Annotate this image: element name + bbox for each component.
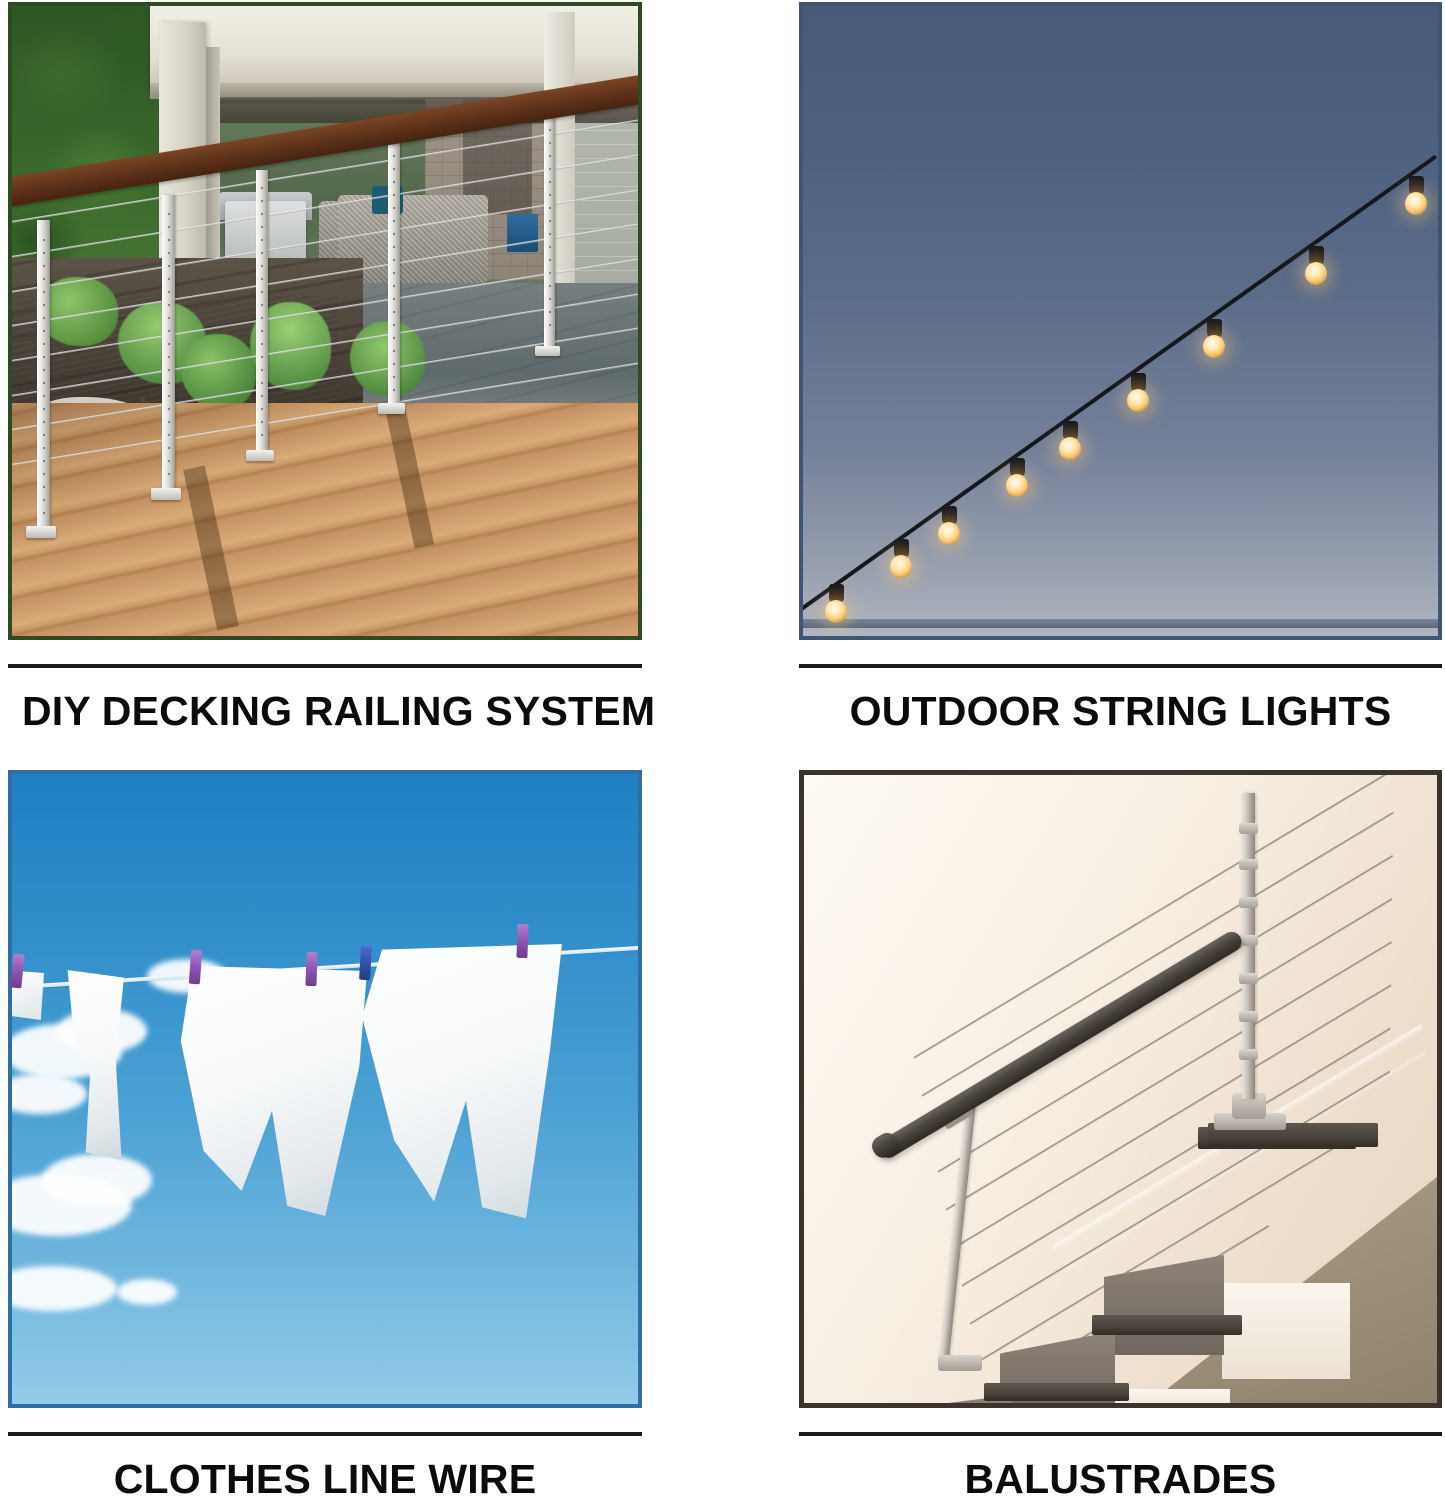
cloud bbox=[117, 1279, 177, 1305]
caption-balustrades: BALUSTRADES bbox=[799, 1432, 1442, 1503]
garment-sock bbox=[8, 970, 44, 1020]
railing-post bbox=[37, 220, 50, 535]
stair-tread bbox=[984, 1383, 1129, 1401]
cable-fitting bbox=[1239, 823, 1258, 834]
light-bulb bbox=[890, 555, 912, 578]
caption-clothes-line-wire: CLOTHES LINE WIRE bbox=[8, 1432, 642, 1503]
photo-diy-decking-railing-system[interactable] bbox=[8, 2, 642, 640]
cable-fitting bbox=[1239, 859, 1258, 870]
cable-fitting bbox=[1239, 1011, 1258, 1022]
railing-post-base bbox=[378, 403, 405, 414]
application-grid: DIY DECKING RAILING SYSTEM OUTDOOR STRIN… bbox=[0, 0, 1445, 1495]
photo-outdoor-string-lights[interactable] bbox=[799, 2, 1442, 640]
railing-post bbox=[256, 170, 268, 460]
railing-post-base bbox=[246, 450, 274, 461]
railing-post bbox=[162, 195, 175, 497]
light-bulb bbox=[1405, 192, 1427, 215]
light-bulb bbox=[1203, 335, 1225, 358]
railing-post-base bbox=[535, 346, 560, 356]
cloud bbox=[8, 1074, 87, 1114]
photo-balustrades[interactable] bbox=[799, 770, 1442, 1408]
light-bulb bbox=[1127, 389, 1149, 412]
shrub bbox=[181, 334, 256, 410]
caption-label: CLOTHES LINE WIRE bbox=[8, 1456, 642, 1503]
caption-divider bbox=[799, 664, 1442, 668]
horizon-line bbox=[803, 619, 1438, 628]
railing-post-base bbox=[151, 488, 181, 500]
caption-label: BALUSTRADES bbox=[799, 1456, 1442, 1503]
light-bulb bbox=[938, 522, 960, 545]
light-bulb bbox=[825, 600, 847, 623]
railing-post-base bbox=[26, 526, 56, 538]
stair-tread bbox=[1092, 1315, 1242, 1335]
cable-fitting bbox=[1239, 973, 1258, 984]
garment-briefs-left bbox=[177, 966, 367, 1216]
cable-fitting bbox=[1239, 935, 1258, 946]
caption-divider bbox=[8, 664, 642, 668]
cloud bbox=[8, 1266, 117, 1311]
deck-scene bbox=[12, 6, 638, 636]
light-bulb bbox=[1006, 474, 1028, 497]
caption-divider bbox=[8, 1432, 642, 1436]
light-bulb bbox=[1305, 262, 1327, 285]
caption-label: OUTDOOR STRING LIGHTS bbox=[799, 688, 1442, 735]
cloud bbox=[42, 1154, 152, 1206]
railing-post bbox=[388, 138, 400, 409]
caption-outdoor-string-lights: OUTDOOR STRING LIGHTS bbox=[799, 664, 1442, 735]
caption-label: DIY DECKING RAILING SYSTEM bbox=[8, 688, 656, 735]
light-bulb bbox=[1059, 437, 1081, 460]
cable-fitting bbox=[1239, 897, 1258, 908]
railing-post bbox=[544, 101, 555, 353]
garment-briefs-right bbox=[362, 944, 562, 1224]
caption-diy-decking-railing-system: DIY DECKING RAILING SYSTEM bbox=[8, 664, 642, 735]
caption-divider bbox=[799, 1432, 1442, 1436]
post-base-lower bbox=[938, 1355, 982, 1371]
photo-clothes-line-wire[interactable] bbox=[8, 770, 642, 1408]
cable-fitting bbox=[1239, 1049, 1258, 1060]
deck-shadow-overlay bbox=[12, 403, 638, 640]
